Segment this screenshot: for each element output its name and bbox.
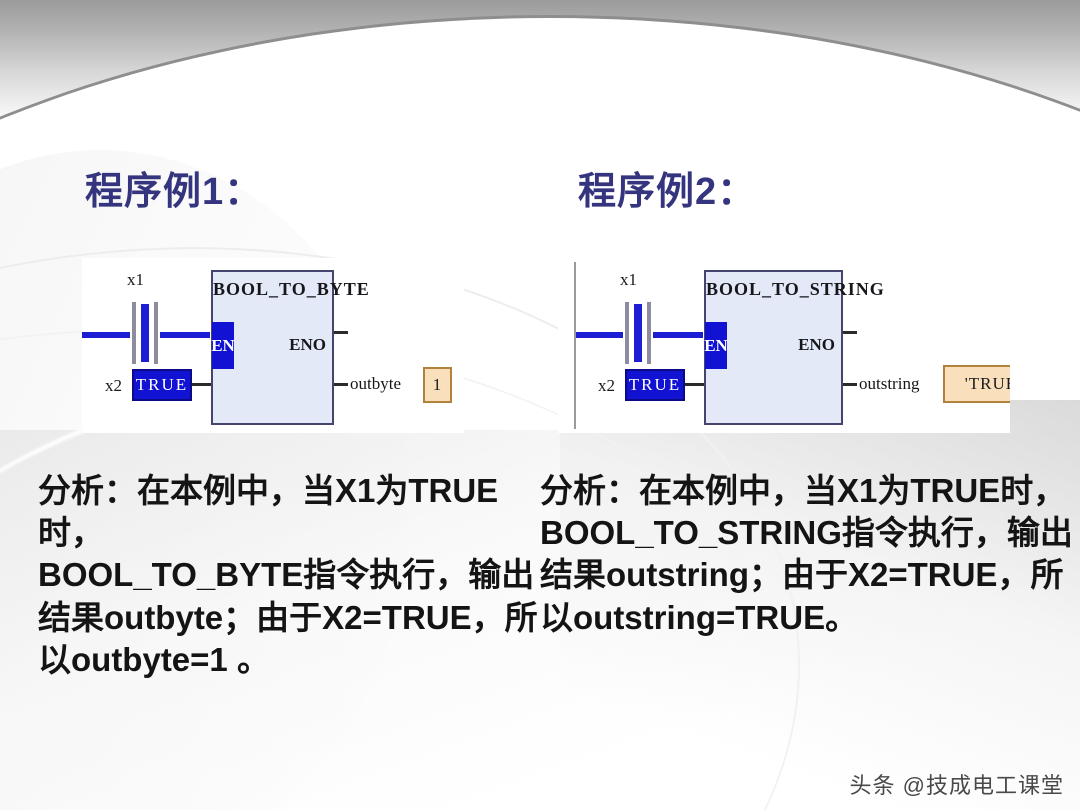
wire-literal-to-block (192, 383, 211, 386)
function-block-bool-to-byte: BOOL_TO_BYTE EN ENO (211, 270, 334, 425)
function-block-bool-to-string: BOOL_TO_STRING EN ENO (704, 270, 843, 425)
output-value-box: 'TRUE' (943, 365, 1010, 403)
literal-value-box-true: TRUE (625, 369, 685, 401)
example-2-ladder-diagram: x1 x2 TRUE BOOL_TO_STRING EN ENO (558, 258, 1010, 433)
wire-output-stub (843, 383, 857, 386)
power-wire-segment-in (82, 332, 130, 338)
power-wire-segment-to-en (160, 332, 210, 338)
function-block-eno-output: ENO (289, 335, 326, 355)
contact-bracket-right (154, 302, 158, 364)
normally-open-contact-x1 (130, 302, 160, 364)
power-wire-segment-in (576, 332, 623, 338)
function-block-en-input: EN (212, 322, 234, 369)
contact-bracket-left (625, 302, 629, 364)
example-column-1: 程序例1： x1 x2 TRUE (0, 0, 540, 810)
function-block-title: BOOL_TO_STRING (706, 279, 841, 300)
literal-label-x2: x2 (105, 376, 122, 396)
example-2-title: 程序例2： (578, 160, 756, 215)
contact-bracket-left (132, 302, 136, 364)
wire-literal-to-block (685, 383, 704, 386)
example-1-ladder-diagram: x1 x2 TRUE BOOL_T (82, 258, 464, 433)
function-block-title: BOOL_TO_BYTE (213, 279, 332, 300)
contact-label-x1: x1 (620, 270, 637, 290)
contact-bracket-right (647, 302, 651, 364)
function-block-en-input: EN (705, 322, 727, 369)
normally-open-contact-x1 (623, 302, 653, 364)
wire-eno-stub (334, 331, 348, 334)
ladder-left-rail (574, 262, 576, 429)
content-columns: 程序例1： x1 x2 TRUE (0, 0, 1080, 810)
example-column-2: 程序例2： x1 x2 TRUE BOOL_TO_STRING EN (540, 0, 1080, 810)
watermark-credit: 头条 @技成电工课堂 (850, 768, 1064, 800)
literal-label-x2: x2 (598, 376, 615, 396)
wire-eno-stub (843, 331, 857, 334)
power-wire-segment-to-en (653, 332, 703, 338)
example-1-analysis-text: 分析：在本例中，当X1为TRUE时， BOOL_TO_BYTE指令执行，输出结果… (38, 470, 538, 681)
example-2-analysis-text: 分析：在本例中，当X1为TRUE时， BOOL_TO_STRING指令执行，输出… (540, 470, 1080, 639)
contact-core (141, 304, 149, 362)
example-1-title: 程序例1： (85, 160, 263, 215)
slide-canvas: 程序例1： x1 x2 TRUE (0, 0, 1080, 810)
literal-value-box-true: TRUE (132, 369, 192, 401)
function-block-eno-output: ENO (798, 335, 835, 355)
contact-core (634, 304, 642, 362)
contact-label-x1: x1 (127, 270, 144, 290)
output-name-outstring: outstring (859, 374, 919, 394)
wire-output-stub (334, 383, 348, 386)
output-value-box: 1 (423, 367, 452, 403)
output-name-outbyte: outbyte (350, 374, 401, 394)
